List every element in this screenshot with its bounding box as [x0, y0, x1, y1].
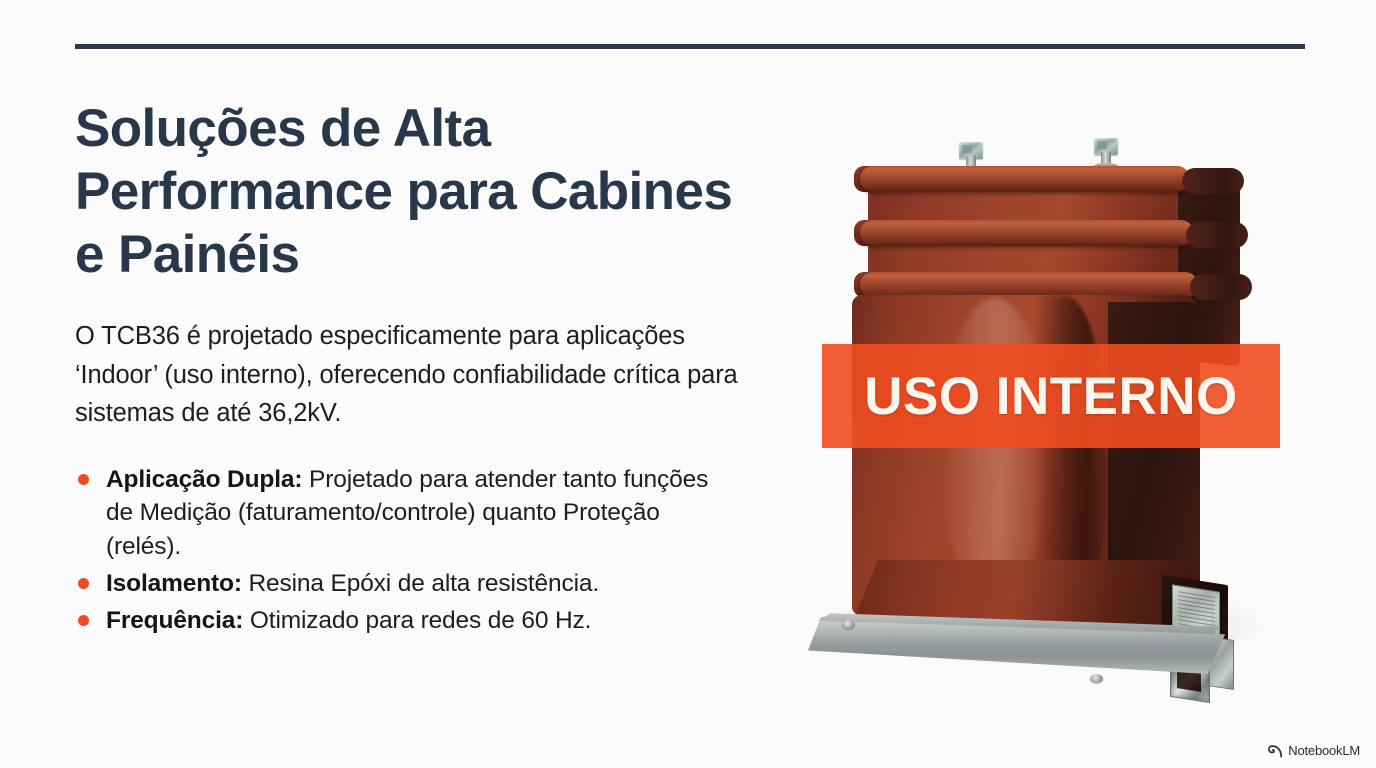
insulator-rib	[860, 166, 1190, 192]
header-divider	[75, 44, 1305, 49]
insulator-rib-cap	[1182, 168, 1244, 194]
bullet-dot-icon	[78, 615, 89, 626]
status-badge-label: USO INTERNO	[864, 370, 1238, 423]
list-item-label: Isolamento:	[106, 570, 242, 597]
list-item-text: Otimizado para redes de 60 Hz.	[250, 607, 591, 634]
intro-paragraph: O TCB36 é projetado especificamente para…	[75, 317, 747, 432]
list-item: Aplicação Dupla: Projetado para atender …	[75, 463, 740, 563]
content-column: Soluções de Alta Performance para Cabine…	[75, 98, 765, 642]
list-item-text: Resina Epóxi de alta resistência.	[249, 570, 600, 597]
watermark: NotebookLM	[1268, 743, 1360, 758]
list-item: Isolamento: Resina Epóxi de alta resistê…	[75, 567, 740, 600]
list-item-label: Aplicação Dupla:	[106, 466, 302, 493]
list-item: Frequência: Otimizado para redes de 60 H…	[75, 604, 740, 637]
list-item-label: Frequência:	[106, 607, 243, 634]
feature-list: Aplicação Dupla: Projetado para atender …	[75, 463, 765, 638]
status-badge: USO INTERNO	[822, 344, 1280, 448]
body-highlight	[940, 298, 1050, 598]
bullet-dot-icon	[78, 578, 89, 589]
page-title: Soluções de Alta Performance para Cabine…	[75, 98, 765, 286]
notebooklm-spiral-icon	[1268, 744, 1283, 758]
mounting-bolt-icon	[1090, 674, 1103, 683]
slide-canvas: Soluções de Alta Performance para Cabine…	[0, 0, 1376, 768]
mounting-bolt-icon	[842, 620, 855, 629]
insulator-rib-cap	[1190, 274, 1252, 300]
watermark-label: NotebookLM	[1288, 743, 1360, 758]
bullet-dot-icon	[78, 474, 89, 485]
insulator-rib	[860, 220, 1194, 246]
insulator-rib-cap	[1186, 222, 1248, 248]
